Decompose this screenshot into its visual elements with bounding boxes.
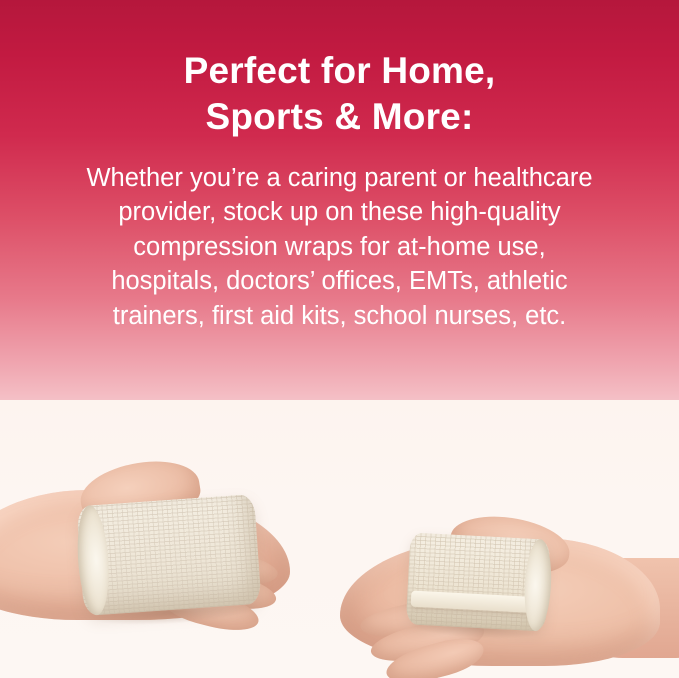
headline-line-2: Sports & More: [60,94,620,140]
body-copy: Whether you’re a caring parent or health… [27,161,652,333]
body-line-3: compression wraps for at-home use, [27,230,652,264]
body-line-4: hospitals, doctors’ offices, EMTs, athle… [27,264,652,298]
right-hand [330,518,679,678]
product-feature-banner: Perfect for Home, Sports & More: Whether… [0,0,679,678]
right-compression-wrap-roll [406,532,551,631]
body-line-2: provider, stock up on these high-quality [27,195,652,229]
left-compression-wrap-roll [76,494,261,616]
text-block: Perfect for Home, Sports & More: Whether… [0,48,679,333]
body-line-5: trainers, first aid kits, school nurses,… [27,299,652,333]
left-hand [0,460,320,650]
product-photo [0,400,679,678]
headline-line-1: Perfect for Home, [184,50,496,91]
page-title: Perfect for Home, Sports & More: [60,48,620,139]
body-line-1: Whether you’re a caring parent or health… [27,161,652,195]
